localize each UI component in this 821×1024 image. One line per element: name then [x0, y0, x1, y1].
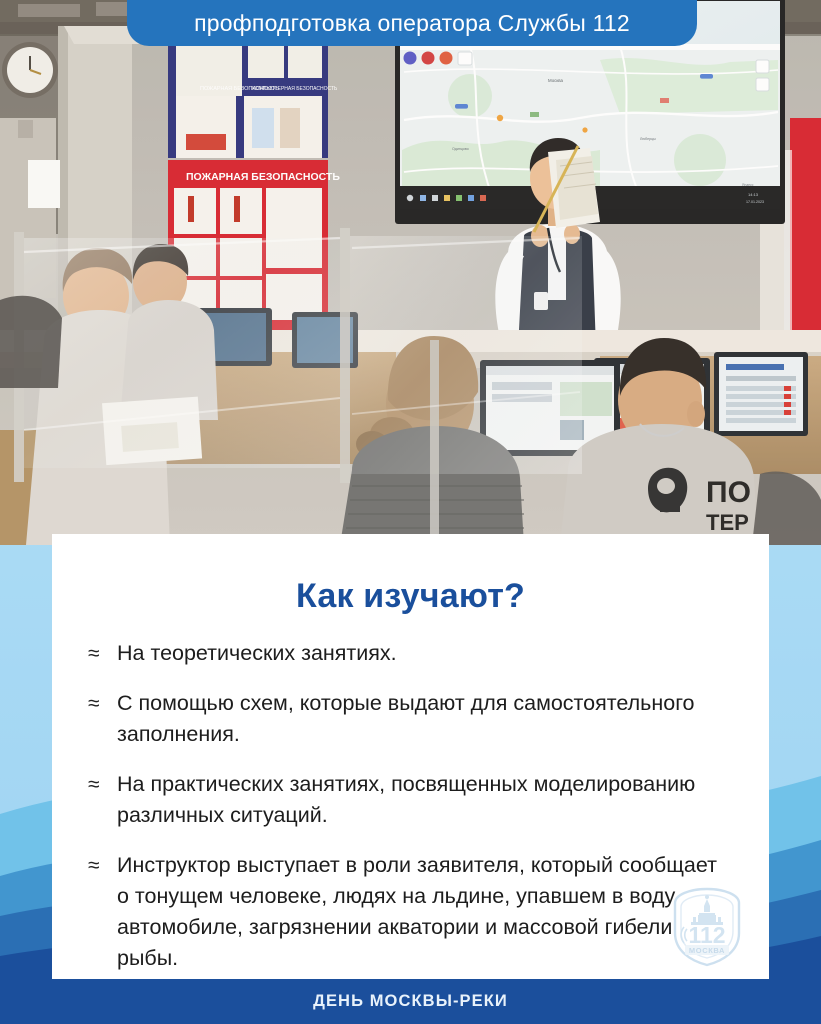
- svg-text:МОСКВА: МОСКВА: [689, 946, 725, 955]
- list-item-text: На практических занятиях, посвященных мо…: [117, 769, 717, 831]
- list-item: ≈ С помощью схем, которые выдают для сам…: [88, 688, 735, 750]
- list-item-text: Инструктор выступает в роли заявителя, к…: [117, 850, 717, 974]
- footer-bar: ДЕНЬ МОСКВЫ-РЕКИ: [0, 979, 821, 1024]
- wave-bullet-icon: ≈: [88, 850, 117, 881]
- bullet-list: ≈ На теоретических занятиях. ≈ С помощью…: [52, 638, 769, 974]
- list-item: ≈ Инструктор выступает в роли заявителя,…: [88, 850, 735, 974]
- list-item: ≈ На практических занятиях, посвященных …: [88, 769, 735, 831]
- logo-112-moscow: 112 МОСКВА: [669, 885, 745, 969]
- classroom-photo-svg: ПОЖАРНАЯ БЕЗОПАСНОСТЬ КОМПЬЮТЕРНАЯ БЕЗОП…: [0, 0, 821, 545]
- classroom-photo: ПОЖАРНАЯ БЕЗОПАСНОСТЬ КОМПЬЮТЕРНАЯ БЕЗОП…: [0, 0, 821, 545]
- logo-112-moscow-icon: 112 МОСКВА: [669, 885, 745, 969]
- wave-bullet-icon: ≈: [88, 688, 117, 719]
- list-item-text: На теоретических занятиях.: [117, 638, 397, 669]
- page-title: Как изучают?: [52, 577, 769, 616]
- list-item: ≈ На теоретических занятиях.: [88, 638, 735, 669]
- wave-bullet-icon: ≈: [88, 638, 117, 669]
- content-card: Как изучают? ≈ На теоретических занятиях…: [52, 534, 769, 979]
- poster-root: ПОЖАРНАЯ БЕЗОПАСНОСТЬ КОМПЬЮТЕРНАЯ БЕЗОП…: [0, 0, 821, 1024]
- header-banner-text: профподготовка оператора Службы 112: [194, 10, 630, 37]
- wave-bullet-icon: ≈: [88, 769, 117, 800]
- list-item-text: С помощью схем, которые выдают для самос…: [117, 688, 717, 750]
- svg-text:112: 112: [688, 922, 725, 948]
- header-banner: профподготовка оператора Службы 112: [127, 0, 697, 46]
- footer-text: ДЕНЬ МОСКВЫ-РЕКИ: [313, 992, 508, 1011]
